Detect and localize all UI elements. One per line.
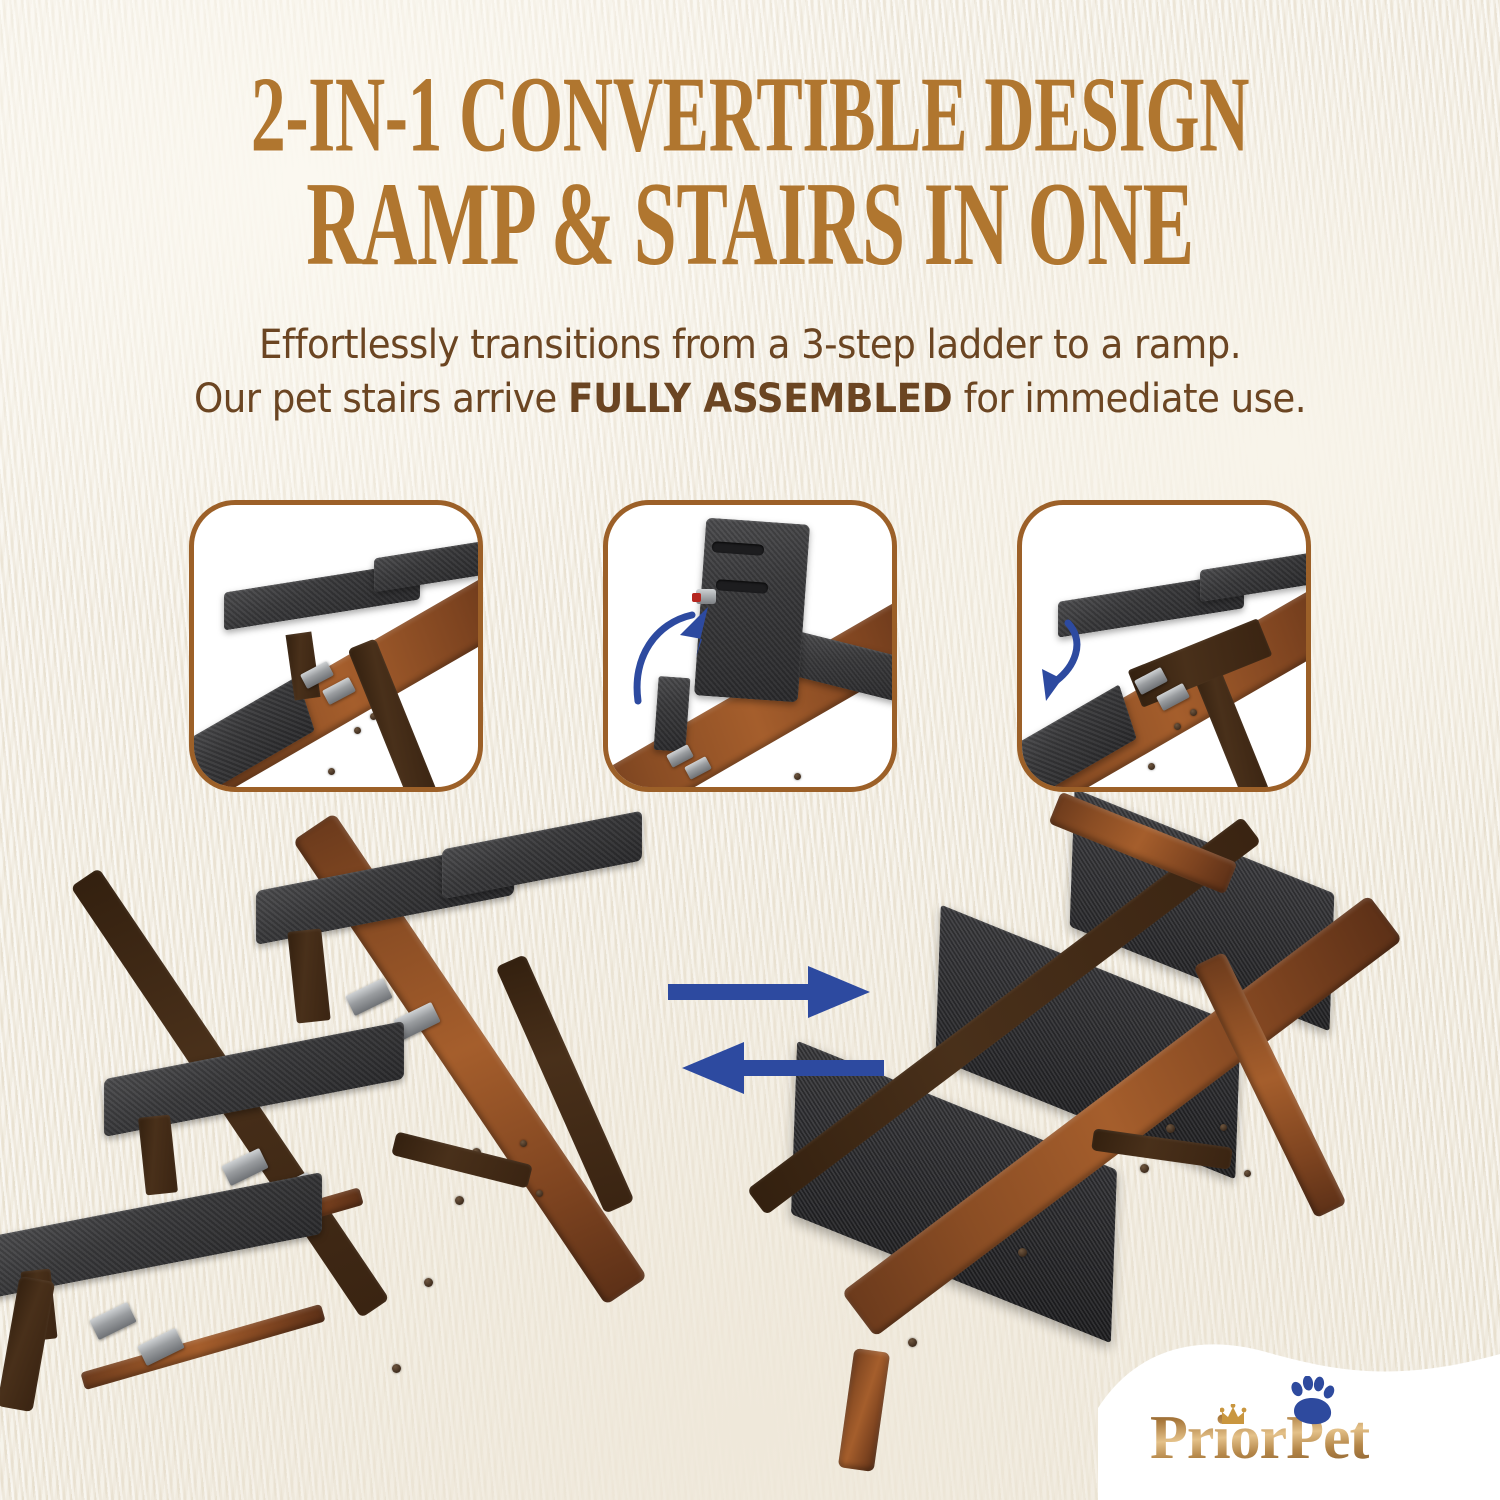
thumbnail-step-lowering[interactable] <box>1017 500 1311 792</box>
thumbnail-step-folding-image <box>608 505 892 787</box>
ramp-front-leg <box>838 1348 890 1472</box>
headline-line-2: RAMP & STAIRS IN ONE <box>120 165 1380 282</box>
thumbnail-step-flat[interactable] <box>189 500 483 792</box>
thumbnail-step-flat-image <box>194 505 478 787</box>
subtitle-line-2-before: Our pet stairs arrive <box>194 376 568 422</box>
curved-down-arrow-icon <box>1028 617 1108 707</box>
stairs-front-foot <box>0 1276 55 1412</box>
arrow-right-icon <box>668 966 870 1018</box>
thumbnail-step-folding[interactable] <box>603 500 897 792</box>
product-stairs <box>0 818 700 1500</box>
subtitle-line-1: Effortlessly transitions from a 3-step l… <box>53 318 1448 372</box>
conversion-arrows <box>666 958 886 1113</box>
headline-block: 2-IN-1 CONVERTIBLE DESIGN RAMP & STAIRS … <box>0 62 1500 255</box>
paw-print-icon <box>1286 1376 1338 1426</box>
thumbnail-step-lowering-image <box>1022 505 1306 787</box>
subtitle-line-2-after: for immediate use. <box>952 376 1306 422</box>
thumbnail-row <box>0 500 1500 792</box>
headline-line-1: 2-IN-1 CONVERTIBLE DESIGN <box>120 62 1380 168</box>
curved-up-arrow-icon <box>622 601 732 709</box>
subtitle-line-2: Our pet stairs arrive FULLY ASSEMBLED fo… <box>53 372 1448 426</box>
arrow-left-icon <box>682 1042 884 1094</box>
subtitle-block: Effortlessly transitions from a 3-step l… <box>0 318 1500 427</box>
crown-icon <box>1220 1404 1254 1428</box>
brand-logo-badge: PriorPet <box>1098 1332 1500 1500</box>
subtitle-emphasis: FULLY ASSEMBLED <box>568 376 952 422</box>
